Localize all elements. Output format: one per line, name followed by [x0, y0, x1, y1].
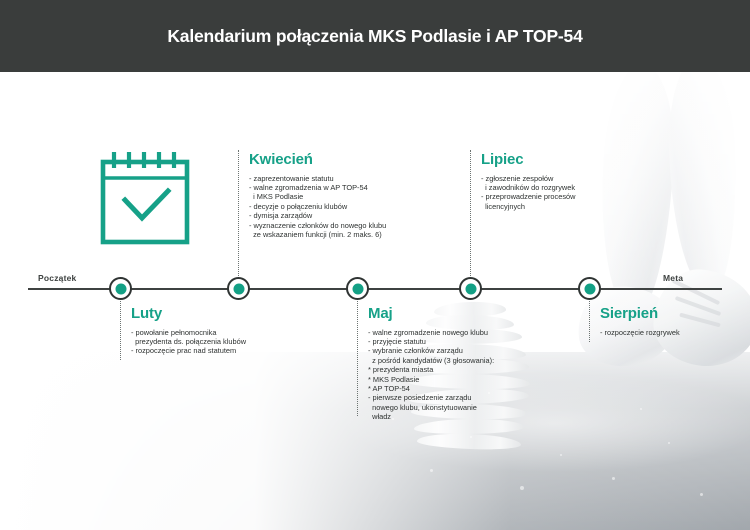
- list-item: * AP TOP-54: [368, 384, 533, 393]
- milestone-kwiecien[interactable]: Kwiecień - zaprezentowanie statutu - wal…: [249, 152, 424, 239]
- list-item: władz: [368, 412, 533, 421]
- milestone-items-maj: - walne zgromadzenie nowego klubu - przy…: [368, 328, 533, 422]
- milestone-items-lipiec: - zgłoszenie zespołów i zawodników do ro…: [481, 174, 626, 212]
- background-photo-runner: [0, 72, 750, 530]
- list-item: - wybranie członków zarządu: [368, 346, 533, 355]
- list-item: - rozpoczęcie rozgrywek: [600, 328, 745, 337]
- connector-sierpien: [589, 298, 590, 342]
- timeline-node-lipiec[interactable]: [459, 277, 482, 300]
- milestone-title-luty: Luty: [131, 306, 291, 323]
- connector-lipiec: [470, 150, 471, 278]
- milestone-title-lipiec: Lipiec: [481, 152, 626, 169]
- milestone-sierpien[interactable]: Sierpień - rozpoczęcie rozgrywek: [600, 306, 745, 337]
- photo-runner-legs: [550, 72, 750, 394]
- connector-maj: [357, 298, 358, 416]
- milestone-items-kwiecien: - zaprezentowanie statutu - walne zgroma…: [249, 174, 424, 240]
- milestone-title-maj: Maj: [368, 306, 533, 323]
- list-item: ze wskazaniem funkcji (min. 2 maks. 6): [249, 230, 424, 239]
- timeline-node-kwiecien[interactable]: [227, 277, 250, 300]
- list-item: z pośród kandydatów (3 głosowania):: [368, 356, 533, 365]
- timeline-node-maj[interactable]: [346, 277, 369, 300]
- list-item: - dymisja zarządów: [249, 211, 424, 220]
- list-item: - pierwsze posiedzenie zarządu: [368, 393, 533, 402]
- list-item: * prezydenta miasta: [368, 365, 533, 374]
- milestone-title-sierpien: Sierpień: [600, 306, 745, 323]
- timeline-end-label: Meta: [663, 273, 683, 283]
- list-item: i MKS Podlasie: [249, 192, 424, 201]
- timeline-node-sierpien[interactable]: [578, 277, 601, 300]
- list-item: prezydenta ds. połączenia klubów: [131, 337, 291, 346]
- list-item: - przeprowadzenie procesów: [481, 192, 626, 201]
- connector-kwiecien: [238, 150, 239, 278]
- page-title: Kalendarium połączenia MKS Podlasie i AP…: [167, 26, 582, 47]
- timeline-axis: [28, 288, 722, 290]
- list-item: - wyznaczenie członków do nowego klubu: [249, 221, 424, 230]
- list-item: - decyzje o połączeniu klubów: [249, 202, 424, 211]
- list-item: - rozpoczęcie prac nad statutem: [131, 346, 291, 355]
- milestone-items-luty: - powołanie pełnomocnika prezydenta ds. …: [131, 328, 291, 356]
- connector-luty: [120, 298, 121, 360]
- list-item: - przyjęcie statutu: [368, 337, 533, 346]
- milestone-items-sierpien: - rozpoczęcie rozgrywek: [600, 328, 745, 337]
- photo-fade-overlay: [0, 72, 750, 530]
- calendar-check-icon: [96, 148, 204, 248]
- list-item: * MKS Podlasie: [368, 375, 533, 384]
- list-item: licencyjnych: [481, 202, 626, 211]
- milestone-luty[interactable]: Luty - powołanie pełnomocnika prezydenta…: [131, 306, 291, 356]
- list-item: - zaprezentowanie statutu: [249, 174, 424, 183]
- list-item: nowego klubu, ukonstytuowanie: [368, 403, 533, 412]
- milestone-title-kwiecien: Kwiecień: [249, 152, 424, 169]
- milestone-maj[interactable]: Maj - walne zgromadzenie nowego klubu - …: [368, 306, 533, 422]
- milestone-lipiec[interactable]: Lipiec - zgłoszenie zespołów i zawodnikó…: [481, 152, 626, 211]
- timeline-node-luty[interactable]: [109, 277, 132, 300]
- header-band: Kalendarium połączenia MKS Podlasie i AP…: [0, 0, 750, 72]
- list-item: - walne zgromadzenie nowego klubu: [368, 328, 533, 337]
- list-item: - zgłoszenie zespołów: [481, 174, 626, 183]
- list-item: - powołanie pełnomocnika: [131, 328, 291, 337]
- list-item: i zawodników do rozgrywek: [481, 183, 626, 192]
- timeline-start-label: Początek: [38, 273, 76, 283]
- timeline-infographic: Kalendarium połączenia MKS Podlasie i AP…: [0, 0, 750, 530]
- list-item: - walne zgromadzenia w AP TOP-54: [249, 183, 424, 192]
